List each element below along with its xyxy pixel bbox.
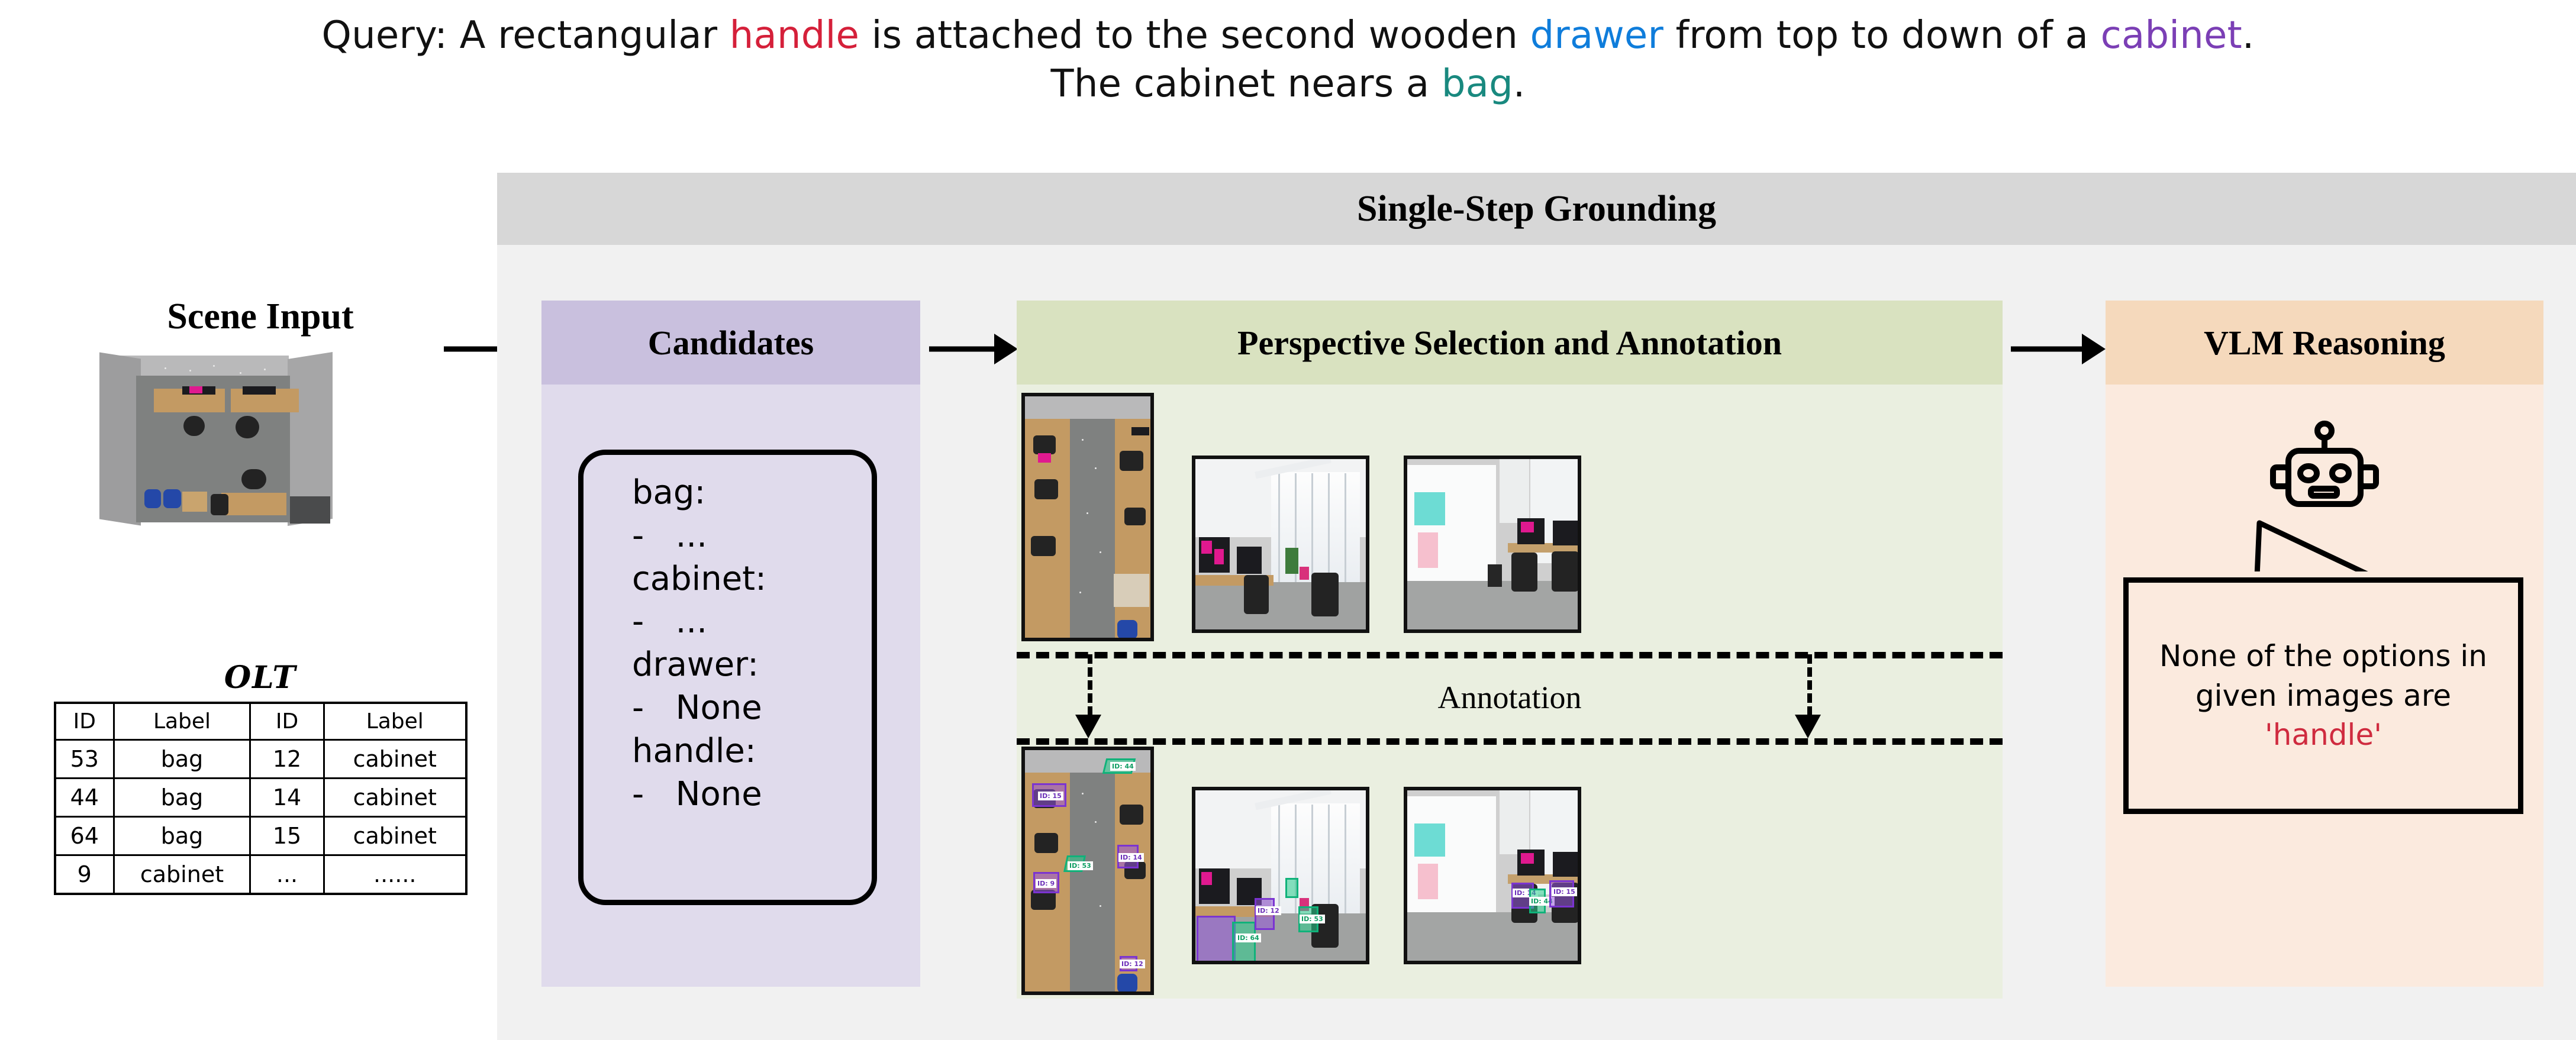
olt-cell-label-a: cabinet	[114, 855, 250, 894]
list-item: handle:	[632, 730, 872, 773]
figure-root: Query: A rectangular handle is attached …	[0, 0, 2576, 1040]
candidates-panel: Candidates bag: - ... cabinet: - ... dra…	[541, 301, 920, 987]
olt-title: OLT	[27, 660, 494, 696]
annotation-divider-top	[1017, 652, 2003, 658]
query-prefix: Query: A rectangular	[322, 14, 730, 57]
annotation-id-tag: ID: 64	[1236, 934, 1261, 942]
view-pointcloud-top[interactable]	[1021, 393, 1154, 641]
list-item: - None	[632, 687, 872, 730]
olt-cell-id-b: 12	[250, 740, 324, 779]
perspective-body: Annotation	[1017, 385, 2003, 999]
annotation-id-tag: ID: 12	[1256, 906, 1281, 915]
query-keyword-bag: bag	[1442, 62, 1513, 106]
olt-section: OLT ID Label ID Label 53 bag 12 cabinet	[27, 660, 494, 895]
list-item: - ...	[632, 515, 872, 558]
vlm-header: VLM Reasoning	[2106, 301, 2543, 385]
vlm-reasoning-panel: VLM Reasoning	[2106, 301, 2543, 987]
vlm-body: None of the options in given images are …	[2106, 385, 2543, 987]
annotation-label: Annotation	[1017, 679, 2003, 716]
perspective-panel: Perspective Selection and Annotation	[1017, 301, 2003, 999]
query-mid-2: from top to down of a	[1663, 14, 2101, 57]
list-item: - ...	[632, 600, 872, 644]
view-photo-window[interactable]	[1192, 456, 1369, 633]
list-item: cabinet:	[632, 558, 872, 601]
view-photo-whiteboard[interactable]	[1404, 456, 1581, 633]
vlm-bubble-prefix: None of the options in given images are	[2159, 639, 2487, 713]
annotation-arrow-left-head	[1075, 715, 1101, 738]
candidates-title: Candidates	[648, 323, 814, 363]
olt-header-row: ID Label ID Label	[55, 703, 466, 740]
scene-input-section: Scene Input	[36, 296, 485, 529]
table-row: 9 cabinet ... ......	[55, 855, 466, 894]
olt-cell-label-b: cabinet	[324, 779, 466, 817]
annotation-id-tag: ID: 9	[1036, 879, 1056, 888]
query-keyword-drawer: drawer	[1530, 14, 1663, 57]
table-row: 53 bag 12 cabinet	[55, 740, 466, 779]
list-item: - None	[632, 773, 872, 816]
olt-cell-label-b: ......	[324, 855, 466, 894]
olt-cell-label-b: cabinet	[324, 740, 466, 779]
olt-header-id-1: ID	[55, 703, 114, 740]
olt-cell-label-a: bag	[114, 779, 250, 817]
olt-cell-id-a: 53	[55, 740, 114, 779]
annotation-id-tag: ID: 15	[1552, 887, 1577, 896]
olt-cell-label-a: bag	[114, 817, 250, 855]
olt-header-label-1: Label	[114, 703, 250, 740]
annotation-id-tag: ID: 15	[1038, 792, 1063, 800]
olt-header-label-2: Label	[324, 703, 466, 740]
annotated-photo-window[interactable]: ID: 64 ID: 12 ID: 53	[1192, 787, 1369, 964]
scene-point-cloud	[95, 352, 426, 529]
query-keyword-handle: handle	[730, 14, 859, 57]
olt-cell-id-b: 15	[250, 817, 324, 855]
olt-cell-id-b: 14	[250, 779, 324, 817]
annotated-pointcloud-top[interactable]: ID: 44 ID: 15 ID: 53 ID: 9 ID: 14 ID: 12	[1021, 747, 1154, 995]
olt-cell-label-b: cabinet	[324, 817, 466, 855]
query-line2-prefix: The cabinet nears a	[1051, 62, 1442, 106]
olt-cell-id-a: 64	[55, 817, 114, 855]
olt-cell-id-b: ...	[250, 855, 324, 894]
annotation-id-tag: ID: 53	[1068, 861, 1093, 870]
olt-cell-id-a: 9	[55, 855, 114, 894]
query-keyword-cabinet: cabinet	[2101, 14, 2242, 57]
query-text: Query: A rectangular handle is attached …	[0, 12, 2576, 109]
annotation-id-tag: ID: 44	[1110, 762, 1136, 771]
candidates-body: bag: - ... cabinet: - ... drawer: - None…	[541, 385, 920, 987]
olt-cell-label-a: bag	[114, 740, 250, 779]
olt-table: ID Label ID Label 53 bag 12 cabinet 44 b…	[54, 702, 468, 895]
query-mid-1: is attached to the second wooden	[859, 14, 1530, 57]
annotation-band: Annotation	[1017, 652, 2003, 739]
list-item: bag:	[632, 471, 872, 515]
page-title: Single-Step Grounding	[1357, 188, 1716, 230]
scene-input-title: Scene Input	[36, 296, 485, 338]
perspective-title: Perspective Selection and Annotation	[1237, 323, 1782, 363]
list-item: drawer:	[632, 644, 872, 687]
vlm-bubble-highlight: 'handle'	[2265, 718, 2382, 752]
annotation-id-tag: ID: 12	[1120, 960, 1145, 968]
annotation-arrow-left-shaft	[1088, 654, 1092, 716]
table-row: 64 bag 15 cabinet	[55, 817, 466, 855]
query-line2-suffix: .	[1513, 62, 1526, 106]
query-line-2: The cabinet nears a bag.	[0, 60, 2576, 109]
perspective-header: Perspective Selection and Annotation	[1017, 301, 2003, 385]
olt-cell-id-a: 44	[55, 779, 114, 817]
stage-header: Single-Step Grounding	[497, 173, 2576, 245]
table-row: 44 bag 14 cabinet	[55, 779, 466, 817]
annotation-divider-bottom	[1017, 738, 2003, 745]
vlm-title: VLM Reasoning	[2204, 323, 2445, 363]
query-mid-3: .	[2242, 14, 2255, 57]
annotation-arrow-right-shaft	[1807, 654, 1812, 716]
annotated-photo-whiteboard[interactable]: ID: 14 ID: 44 ID: 15	[1404, 787, 1581, 964]
olt-header-id-2: ID	[250, 703, 324, 740]
annotation-arrow-right-head	[1795, 715, 1821, 738]
vlm-speech-bubble: None of the options in given images are …	[2123, 577, 2523, 814]
candidates-header: Candidates	[541, 301, 920, 385]
annotation-id-tag: ID: 14	[1118, 853, 1144, 862]
candidates-list-box: bag: - ... cabinet: - ... drawer: - None…	[578, 450, 877, 905]
query-line-1: Query: A rectangular handle is attached …	[0, 12, 2576, 60]
annotation-id-tag: ID: 53	[1300, 915, 1325, 923]
